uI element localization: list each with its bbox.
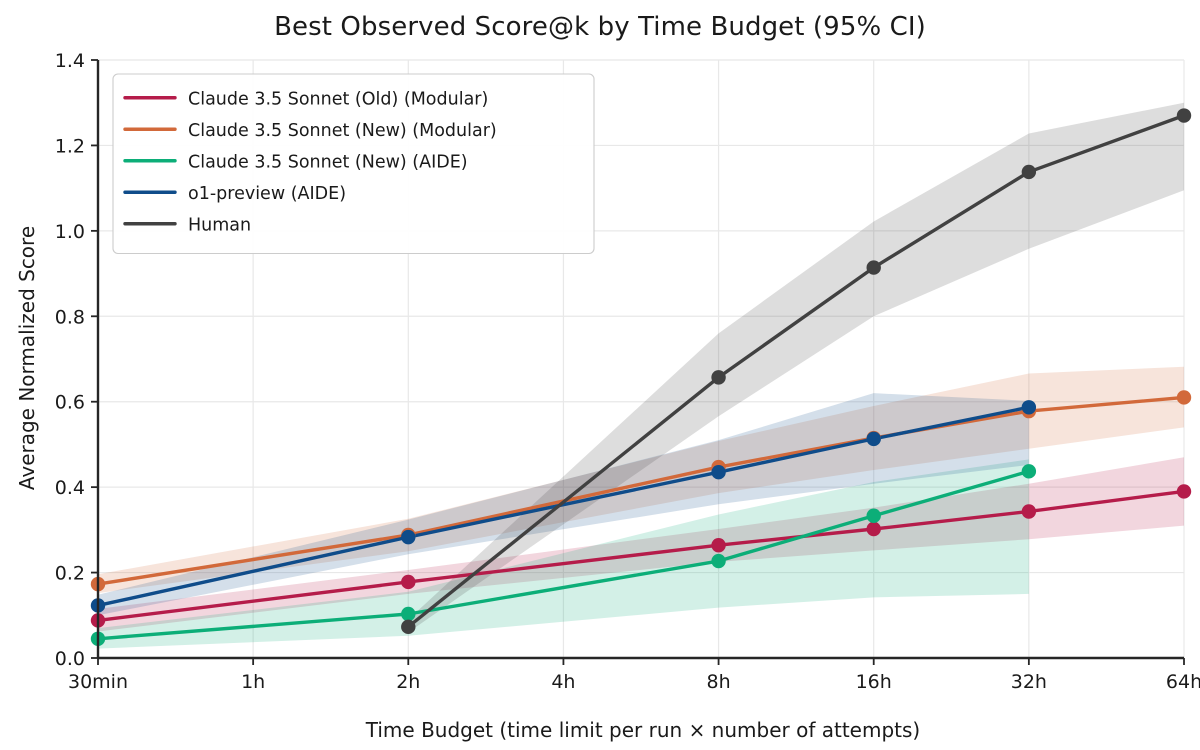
- data-point-marker: [1022, 400, 1036, 414]
- y-axis-tick-label: 0.4: [55, 477, 85, 499]
- data-point-marker: [867, 509, 881, 523]
- legend-label: o1-preview (AIDE): [188, 184, 346, 204]
- y-axis-title: Average Normalized Score: [15, 226, 39, 490]
- x-axis-tick-label: 64h: [1166, 671, 1200, 693]
- x-axis-title: Time Budget (time limit per run × number…: [365, 718, 920, 742]
- data-point-marker: [711, 465, 725, 479]
- data-point-marker: [1177, 484, 1191, 498]
- x-axis-tick-labels: 30min1h2h4h8h16h32h64h: [68, 671, 1200, 693]
- y-axis-tick-label: 0.2: [55, 563, 85, 585]
- data-point-marker: [1022, 464, 1036, 478]
- chart-figure: Best Observed Score@k by Time Budget (95…: [0, 0, 1200, 750]
- legend-label: Claude 3.5 Sonnet (New) (AIDE): [188, 152, 468, 172]
- legend-label: Claude 3.5 Sonnet (New) (Modular): [188, 121, 497, 141]
- y-axis-tick-label: 0.0: [55, 648, 85, 670]
- data-point-marker: [401, 530, 415, 544]
- data-point-marker: [711, 554, 725, 568]
- data-point-marker: [1022, 165, 1036, 179]
- data-point-marker: [1177, 108, 1191, 122]
- data-point-marker: [401, 575, 415, 589]
- y-axis-tick-label: 1.0: [55, 221, 85, 243]
- chart-plot-area: 30min1h2h4h8h16h32h64h 0.00.20.40.60.81.…: [0, 0, 1200, 750]
- legend-label: Human: [188, 215, 251, 235]
- x-axis-tick-label: 2h: [396, 671, 420, 693]
- x-axis-tick-label: 8h: [707, 671, 731, 693]
- y-axis-tick-label: 0.6: [55, 392, 85, 414]
- y-axis-tick-label: 1.4: [55, 50, 85, 72]
- data-point-marker: [711, 538, 725, 552]
- x-axis-tick-label: 1h: [241, 671, 265, 693]
- data-point-marker: [867, 260, 881, 274]
- data-point-marker: [867, 522, 881, 536]
- y-axis-tick-label: 0.8: [55, 306, 85, 328]
- x-axis-tick-label: 16h: [856, 671, 892, 693]
- y-axis-tick-label: 1.2: [55, 135, 85, 157]
- chart-legend: Claude 3.5 Sonnet (Old) (Modular)Claude …: [113, 74, 594, 254]
- y-axis-tick-labels: 0.00.20.40.60.81.01.21.4: [55, 50, 85, 670]
- x-axis-tick-label: 32h: [1011, 671, 1047, 693]
- x-axis-tick-label: 30min: [68, 671, 128, 693]
- data-point-marker: [1022, 504, 1036, 518]
- x-axis-tick-label: 4h: [551, 671, 575, 693]
- data-point-marker: [1177, 390, 1191, 404]
- data-point-marker: [867, 432, 881, 446]
- data-point-marker: [711, 370, 725, 384]
- data-point-marker: [401, 607, 415, 621]
- data-point-marker: [401, 620, 415, 634]
- legend-label: Claude 3.5 Sonnet (Old) (Modular): [188, 89, 488, 109]
